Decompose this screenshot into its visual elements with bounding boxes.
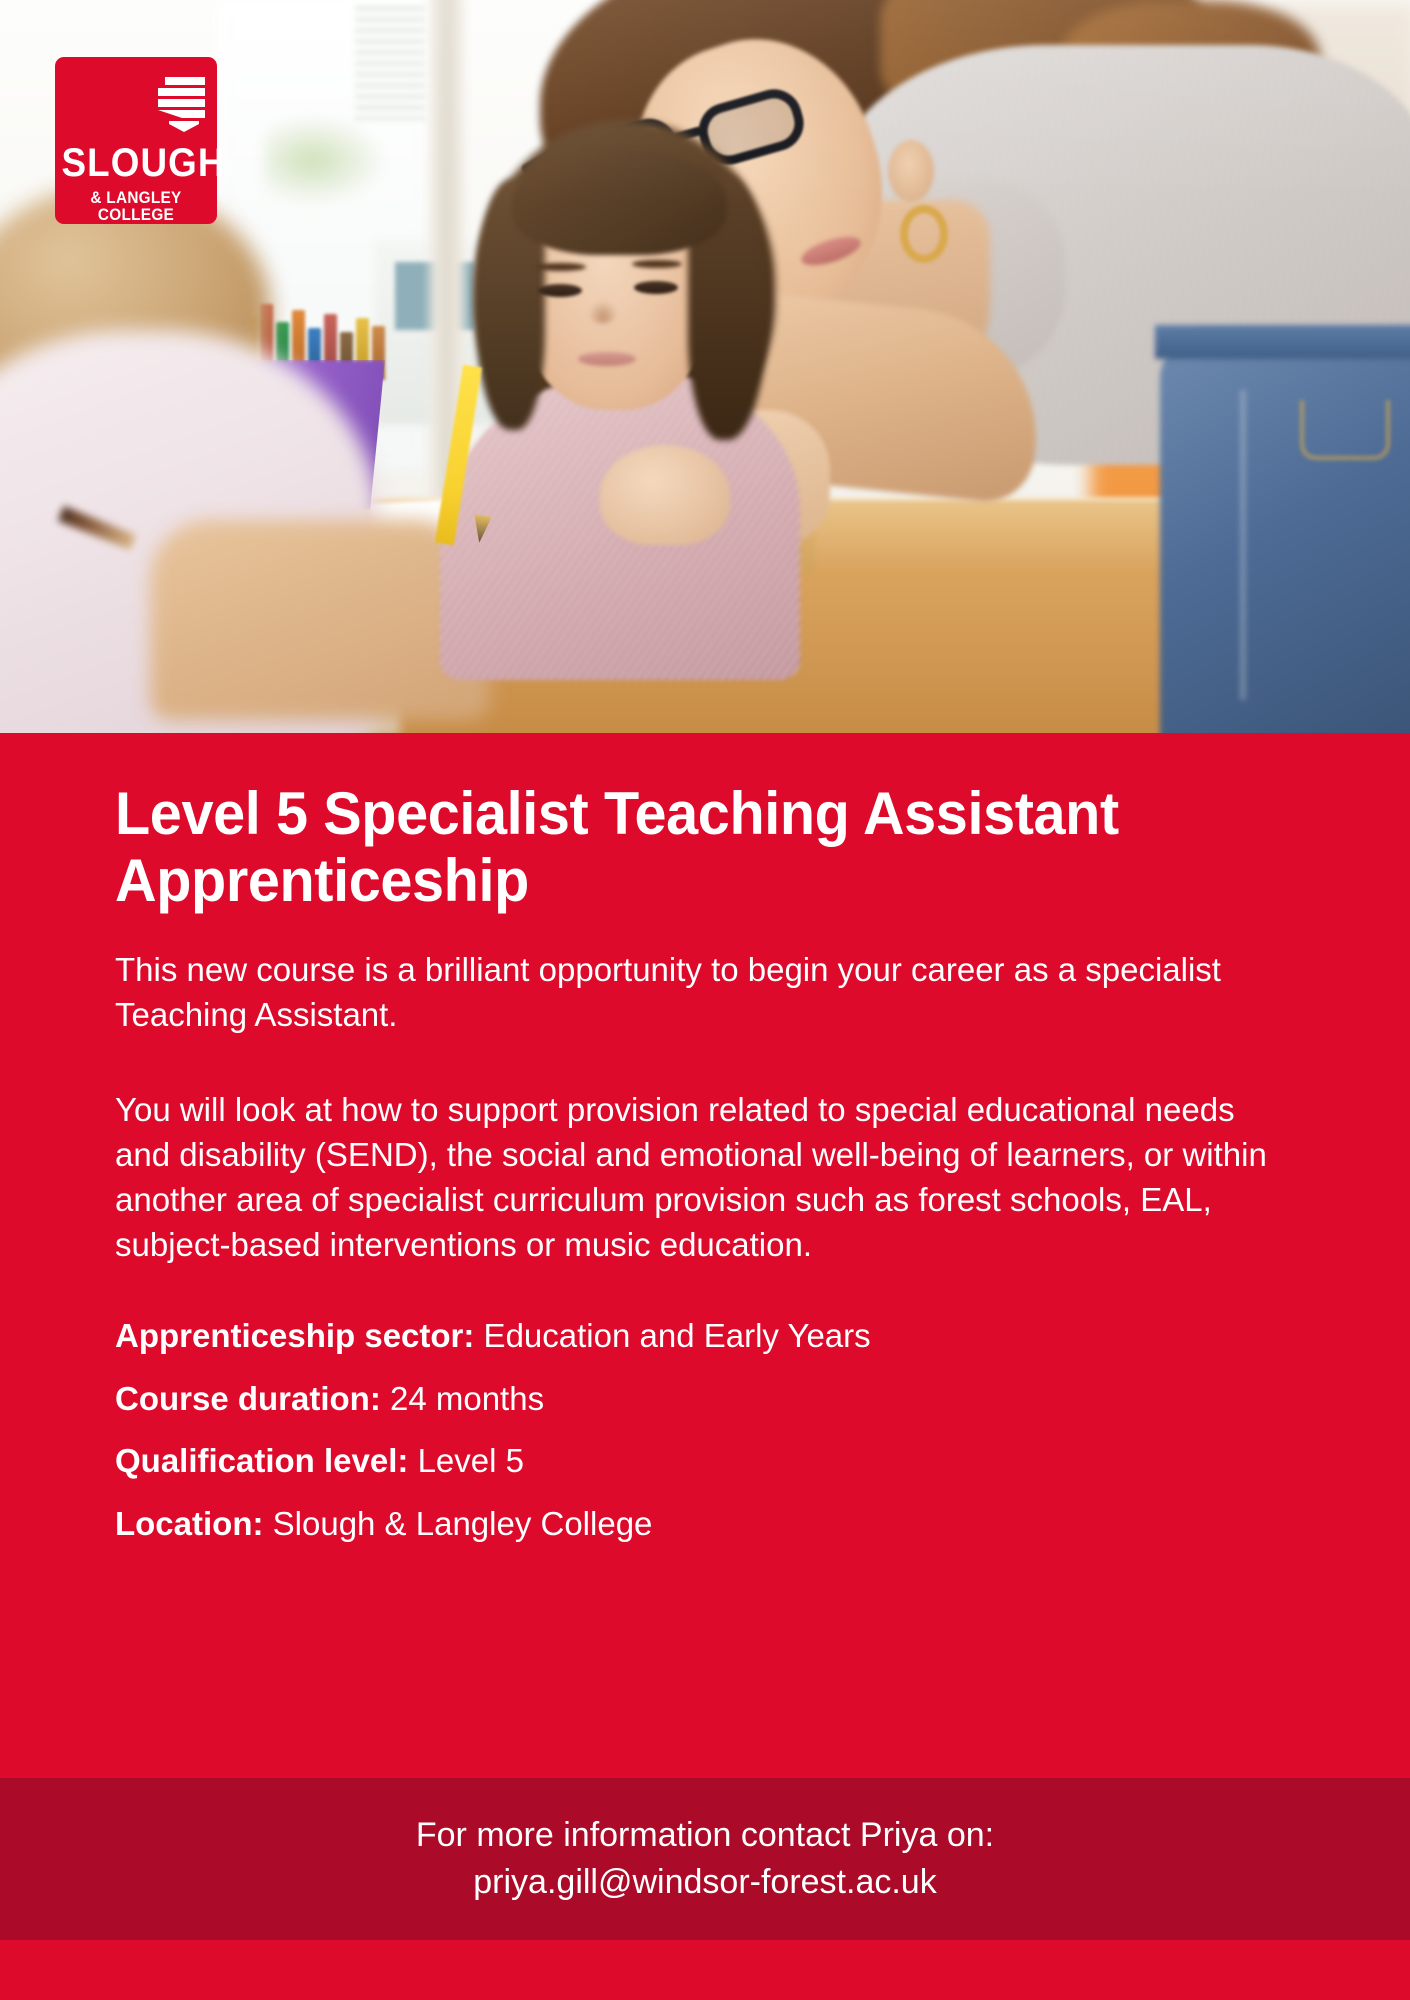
detail-label: Qualification level: [115,1443,408,1480]
detail-label: Course duration: [115,1381,381,1418]
detail-value: Slough & Langley College [273,1506,653,1543]
teacher-jeans-waistband [1155,325,1410,359]
girl-eye [538,284,582,297]
shield-stripes-icon [155,74,205,136]
girl-mouth [578,352,636,366]
logo-wordmark: SLOUGH & LANGLEY COLLEGE [55,143,217,223]
teacher-ear [888,140,934,202]
course-details-list: Apprenticeship sector: Education and Ear… [115,1320,1295,1541]
description-paragraph: You will look at how to support provisio… [115,1088,1277,1268]
contact-email[interactable]: priya.gill@windsor-forest.ac.uk [473,1859,936,1906]
foreground-child-arm [150,520,490,720]
college-logo[interactable]: SLOUGH & LANGLEY COLLEGE [55,57,217,224]
girl-nose [588,300,618,324]
logo-subtitle: & LANGLEY COLLEGE [61,190,212,223]
contact-prompt: For more information contact Priya on: [416,1812,994,1859]
logo-name: SLOUGH [61,143,210,183]
teacher-jeans-pocket [1300,400,1390,460]
intro-paragraph: This new course is a brilliant opportuni… [115,949,1228,1037]
girl-eye [634,281,678,294]
detail-row: Qualification level: Level 5 [115,1445,1277,1479]
bottom-colour-band [0,1940,1410,2000]
teacher-jeans-seam [1240,390,1246,700]
detail-value: 24 months [390,1381,544,1418]
detail-label: Apprenticeship sector: [115,1318,474,1355]
girl-eyebrow [536,263,586,271]
poster: SLOUGH & LANGLEY COLLEGE Level 5 Special… [0,0,1410,2000]
detail-row: Location: Slough & Langley College [115,1508,1277,1542]
detail-value: Education and Early Years [484,1318,871,1355]
contact-footer: For more information contact Priya on: p… [0,1778,1410,1940]
window-blind [355,0,425,120]
poster-content: Level 5 Specialist Teaching Assistant Ap… [0,733,1410,1570]
girl-hand [600,445,730,545]
detail-value: Level 5 [418,1443,524,1480]
foliage-blur [265,115,385,205]
page-title: Level 5 Specialist Teaching Assistant Ap… [115,780,1248,914]
teacher-jeans [1160,330,1410,733]
girl-eyebrow [632,260,682,268]
detail-label: Location: [115,1506,263,1543]
teacher-hoop-earring [900,205,948,263]
girl-fringe [512,150,727,255]
detail-row: Apprenticeship sector: Education and Ear… [115,1320,1277,1354]
detail-row: Course duration: 24 months [115,1383,1277,1417]
